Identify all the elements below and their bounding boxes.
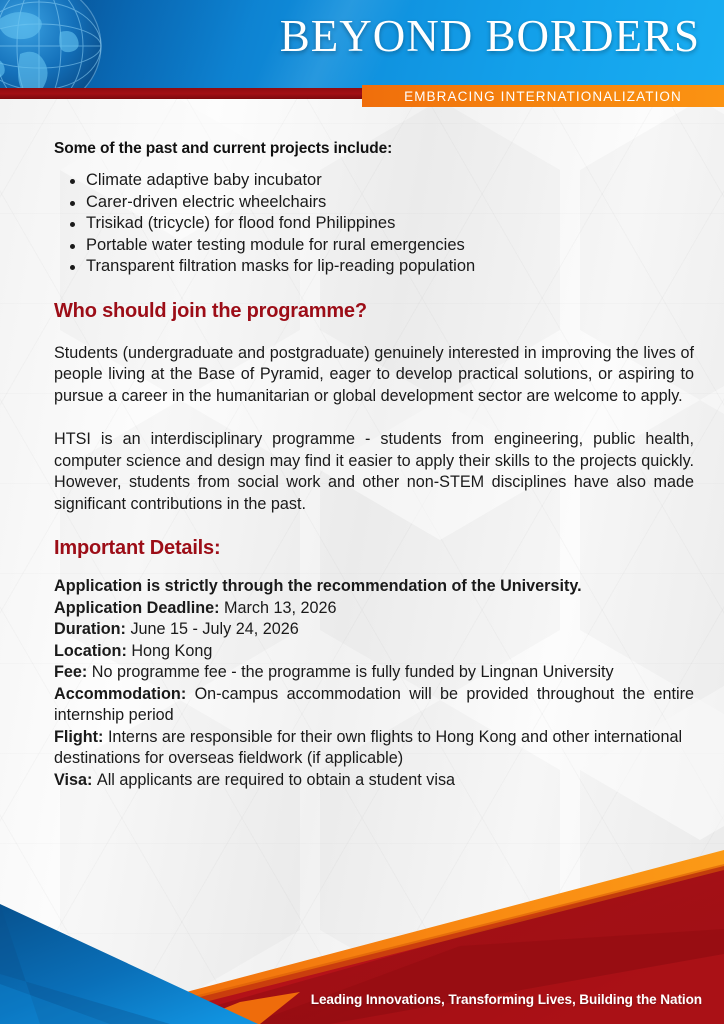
important-details-heading: Important Details:: [54, 537, 694, 560]
detail-value: No programme fee - the programme is full…: [92, 663, 614, 681]
who-should-join-paragraph: Students (undergraduate and postgraduate…: [54, 343, 694, 408]
list-item: Transparent filtration masks for lip-rea…: [86, 256, 694, 278]
detail-label: Location:: [54, 642, 131, 660]
list-item: Carer-driven electric wheelchairs: [86, 192, 694, 214]
content-area: Some of the past and current projects in…: [54, 140, 694, 791]
list-item: Climate adaptive baby incubator: [86, 170, 694, 192]
detail-row-duration: Duration: June 15 - July 24, 2026: [54, 619, 694, 641]
detail-row-location: Location: Hong Kong: [54, 641, 694, 663]
footer-tagline: Leading Innovations, Transforming Lives,…: [311, 992, 702, 1007]
detail-label: Flight:: [54, 728, 108, 746]
header-tagline-tab: EMBRACING INTERNATIONALIZATION: [362, 85, 724, 107]
details-note: Application is strictly through the reco…: [54, 576, 694, 598]
detail-row-flight: Flight: Interns are responsible for thei…: [54, 727, 694, 770]
detail-label: Application Deadline:: [54, 599, 224, 617]
detail-row-accommodation: Accommodation: On-campus accommodation w…: [54, 684, 694, 727]
detail-row-visa: Visa: All applicants are required to obt…: [54, 770, 694, 792]
globe-icon: [0, 0, 114, 88]
projects-list: Climate adaptive baby incubator Carer-dr…: [54, 170, 694, 278]
who-should-join-heading: Who should join the programme?: [54, 300, 694, 323]
detail-label: Visa:: [54, 771, 97, 789]
list-item: Trisikad (tricycle) for flood fond Phili…: [86, 213, 694, 235]
poster-page: BEYOND BORDERS EMBRACING INTERNATIONALIZ…: [0, 0, 724, 1024]
htsi-paragraph: HTSI is an interdisciplinary programme -…: [54, 429, 694, 515]
projects-heading: Some of the past and current projects in…: [54, 140, 694, 158]
detail-label: Duration:: [54, 620, 130, 638]
detail-row-application-deadline: Application Deadline: March 13, 2026: [54, 598, 694, 620]
header-tagline-text: EMBRACING INTERNATIONALIZATION: [404, 89, 682, 104]
page-header: BEYOND BORDERS: [0, 0, 724, 88]
detail-value: March 13, 2026: [224, 599, 336, 617]
detail-value: Interns are responsible for their own fl…: [54, 728, 682, 768]
detail-label: Accommodation:: [54, 685, 195, 703]
detail-label: Fee:: [54, 663, 92, 681]
list-item: Portable water testing module for rural …: [86, 235, 694, 257]
detail-value: All applicants are required to obtain a …: [97, 771, 455, 789]
page-title: BEYOND BORDERS: [280, 14, 700, 59]
details-note-text: Application is strictly through the reco…: [54, 577, 582, 595]
detail-value: June 15 - July 24, 2026: [130, 620, 298, 638]
detail-row-fee: Fee: No programme fee - the programme is…: [54, 662, 694, 684]
detail-value: Hong Kong: [131, 642, 212, 660]
